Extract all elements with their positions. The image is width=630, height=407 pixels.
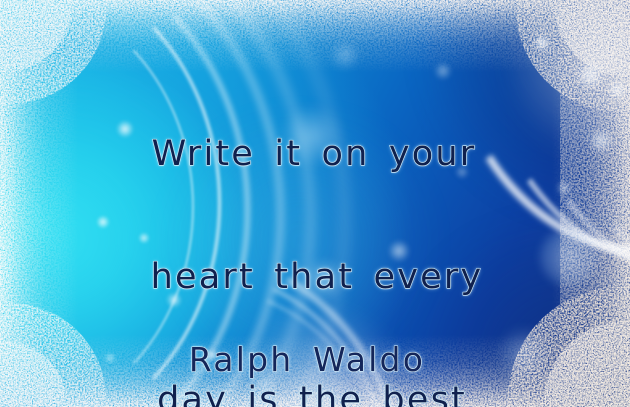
text-layer: Write it on your heart that every day is… bbox=[0, 0, 630, 407]
quote-poster: Write it on your heart that every day is… bbox=[0, 0, 630, 407]
quote-attribution: Ralph Waldo Emerson bbox=[0, 262, 630, 407]
attribution-line-1: Ralph Waldo bbox=[0, 340, 622, 379]
quote-line-1: Write it on your bbox=[0, 134, 629, 175]
